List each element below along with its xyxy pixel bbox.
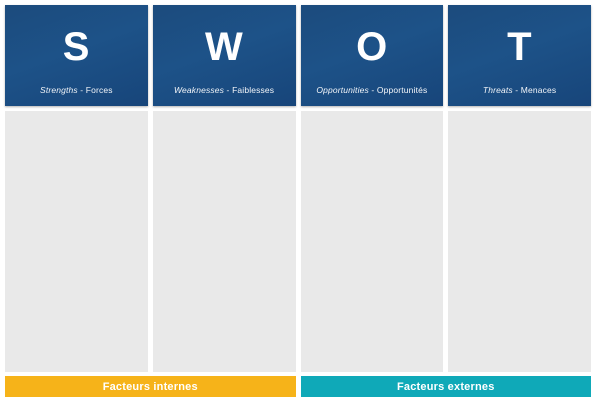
- swot-subtitle-opportunities: Opportunities - Opportunités: [301, 85, 444, 95]
- swot-subtitle-en-threats: Threats: [483, 85, 513, 95]
- swot-subtitle-fr-strengths: Forces: [86, 85, 113, 95]
- swot-subtitle-fr-weaknesses: Faiblesses: [232, 85, 274, 95]
- swot-subtitle-fr-threats: Menaces: [521, 85, 557, 95]
- swot-panel-threats[interactable]: [448, 111, 591, 372]
- swot-body-row: [5, 111, 591, 372]
- swot-subtitle-separator-strengths: -: [78, 85, 86, 95]
- swot-subtitle-threats: Threats - Menaces: [448, 85, 591, 95]
- swot-panel-weaknesses[interactable]: [153, 111, 296, 372]
- swot-subtitle-en-opportunities: Opportunities: [316, 85, 369, 95]
- swot-subtitle-fr-opportunities: Opportunités: [377, 85, 427, 95]
- swot-subtitle-weaknesses: Weaknesses - Faiblesses: [153, 85, 296, 95]
- swot-card-weaknesses[interactable]: W Weaknesses - Faiblesses: [153, 5, 296, 106]
- swot-letter-o: O: [356, 27, 388, 67]
- swot-card-threats[interactable]: T Threats - Menaces: [448, 5, 591, 106]
- swot-letter-t: T: [507, 27, 532, 67]
- swot-panel-strengths[interactable]: [5, 111, 148, 372]
- swot-subtitle-strengths: Strengths - Forces: [5, 85, 148, 95]
- swot-diagram: S Strengths - Forces W Weaknesses - Faib…: [0, 0, 600, 400]
- swot-panel-opportunities[interactable]: [301, 111, 444, 372]
- swot-subtitle-en-weaknesses: Weaknesses: [174, 85, 224, 95]
- swot-footer-row: Facteurs internes Facteurs externes: [5, 376, 591, 397]
- swot-subtitle-en-strengths: Strengths: [40, 85, 78, 95]
- swot-card-strengths[interactable]: S Strengths - Forces: [5, 5, 148, 106]
- swot-subtitle-separator-opportunities: -: [369, 85, 377, 95]
- swot-header-row: S Strengths - Forces W Weaknesses - Faib…: [5, 5, 591, 106]
- footer-bar-internal-factors: Facteurs internes: [5, 376, 296, 397]
- swot-letter-w: W: [205, 27, 243, 67]
- swot-subtitle-separator-threats: -: [513, 85, 521, 95]
- swot-card-opportunities[interactable]: O Opportunities - Opportunités: [301, 5, 444, 106]
- swot-letter-s: S: [63, 27, 90, 67]
- footer-bar-external-factors: Facteurs externes: [301, 376, 592, 397]
- swot-subtitle-separator-weaknesses: -: [224, 85, 232, 95]
